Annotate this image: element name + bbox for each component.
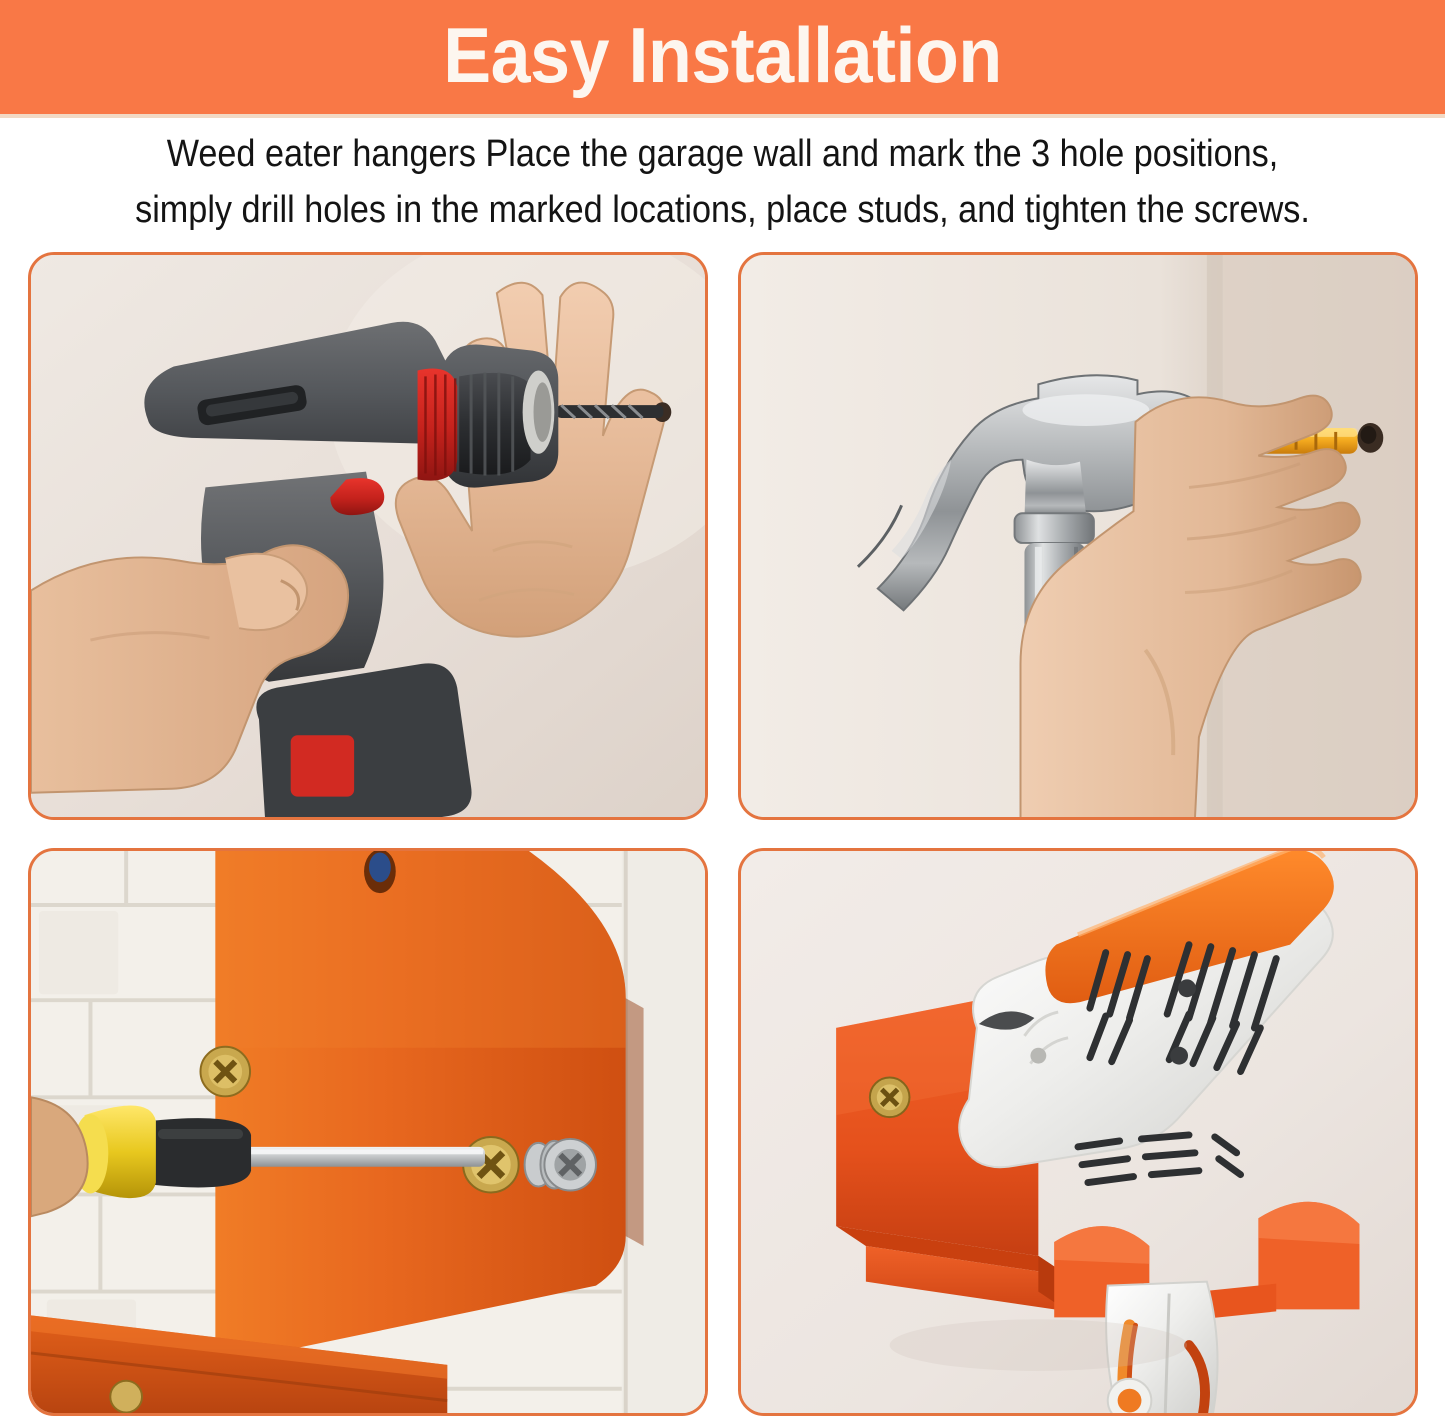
panel-screwdriver [28,848,708,1416]
hammer-illustration [741,255,1415,817]
screwdriver-illustration [31,851,705,1413]
drill-illustration [31,255,705,817]
panel-drill [28,252,708,820]
panel-hammer [738,252,1418,820]
upper-screw [200,1047,250,1097]
trimmer-illustration [741,851,1415,1413]
page-title: Easy Installation [443,16,1001,94]
instruction-text: Weed eater hangers Place the garage wall… [72,126,1373,238]
instruction-line-2: simply drill holes in the marked locatio… [72,182,1373,238]
orange-bracket-plate [215,851,643,1365]
panel-trimmer [738,848,1418,1416]
instruction-line-1: Weed eater hangers Place the garage wall… [72,126,1373,182]
infographic-page: Easy Installation Weed eater hangers Pla… [0,0,1445,1425]
drill-bit [556,405,663,418]
header-banner: Easy Installation [0,0,1445,118]
photo-grid [28,252,1418,1416]
